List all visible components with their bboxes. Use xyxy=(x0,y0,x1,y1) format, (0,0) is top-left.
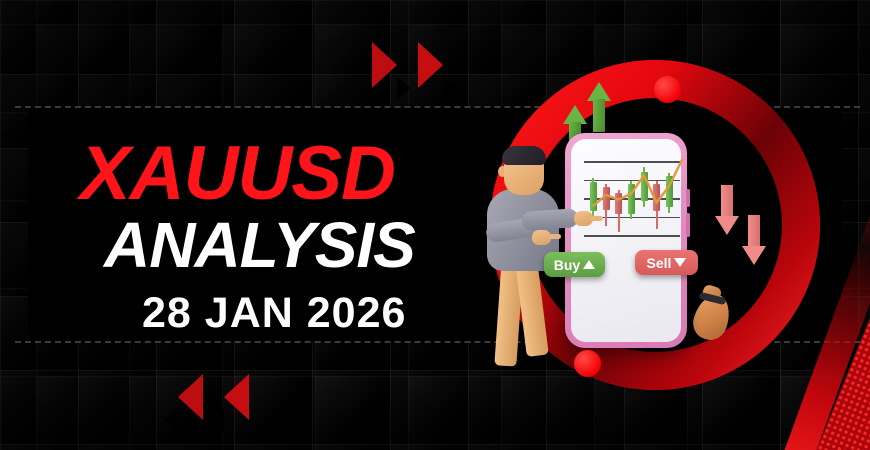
character-pointing-finger xyxy=(590,216,603,221)
ring-dot-bottom xyxy=(574,350,601,377)
chevron-left-icon xyxy=(178,374,203,420)
page-title-date: 28 JAN 2026 xyxy=(142,289,480,338)
chevron-right-icon xyxy=(372,42,397,88)
sell-button[interactable]: Sell xyxy=(635,250,698,275)
sell-button-label: Sell xyxy=(647,255,672,271)
artwork-stage: Buy Sell xyxy=(432,0,870,450)
character-arm xyxy=(521,208,578,231)
page-title-subject: ANALYSIS xyxy=(104,213,480,278)
chevron-left-icon xyxy=(224,374,249,420)
buy-button-label: Buy xyxy=(554,257,580,273)
trader-character-illustration xyxy=(474,142,589,357)
character-hair xyxy=(502,146,546,165)
candlestick-chart xyxy=(584,161,680,237)
ring-dot-top xyxy=(654,76,681,103)
character-finger xyxy=(548,234,561,239)
triangle-down-icon xyxy=(674,258,686,267)
chart-trend-line xyxy=(584,161,694,251)
character-leg xyxy=(515,259,549,357)
buy-button[interactable]: Buy xyxy=(544,252,605,277)
triangle-up-icon xyxy=(583,260,595,269)
headline-block: XAUUSD ANALYSIS 28 JAN 2026 xyxy=(80,138,480,338)
xauusd-analysis-banner: XAUUSD ANALYSIS 28 JAN 2026 xyxy=(0,0,870,450)
page-title-pair: XAUUSD xyxy=(80,138,480,209)
money-bag-icon xyxy=(693,280,733,340)
